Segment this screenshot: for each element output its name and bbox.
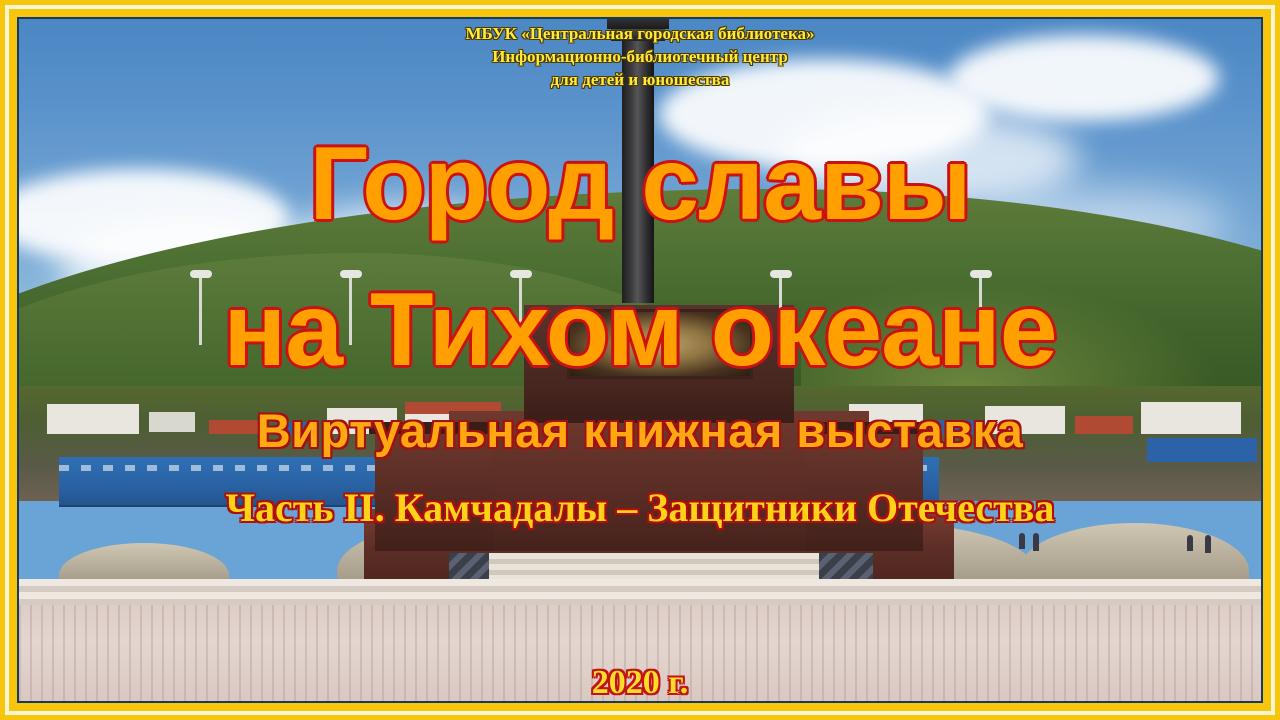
slide-title-line-2: на Тихом океане: [0, 278, 1280, 382]
pedestrian: [1205, 535, 1211, 553]
slide-title-line-1: Город славы: [0, 132, 1280, 236]
gravel-mound: [1019, 523, 1249, 583]
gravel-mound: [59, 543, 229, 583]
presentation-slide: МБУК «Центральная городская библиотека» …: [0, 0, 1280, 720]
organization-line-2: Информационно-библиотечный центр: [0, 45, 1280, 68]
slide-subtitle: Виртуальная книжная выставка: [0, 405, 1280, 457]
pedestrian: [1033, 533, 1039, 551]
organization-line-1: МБУК «Центральная городская библиотека»: [0, 22, 1280, 45]
pedestrian: [1019, 533, 1025, 549]
pedestrian: [1187, 535, 1193, 551]
organization-line-3: для детей и юношества: [0, 68, 1280, 91]
slide-year: 2020 г.: [0, 664, 1280, 702]
organization-header: МБУК «Центральная городская библиотека» …: [0, 22, 1280, 91]
slide-part-line: Часть II. Камчадалы – Защитники Отечеств…: [0, 486, 1280, 530]
